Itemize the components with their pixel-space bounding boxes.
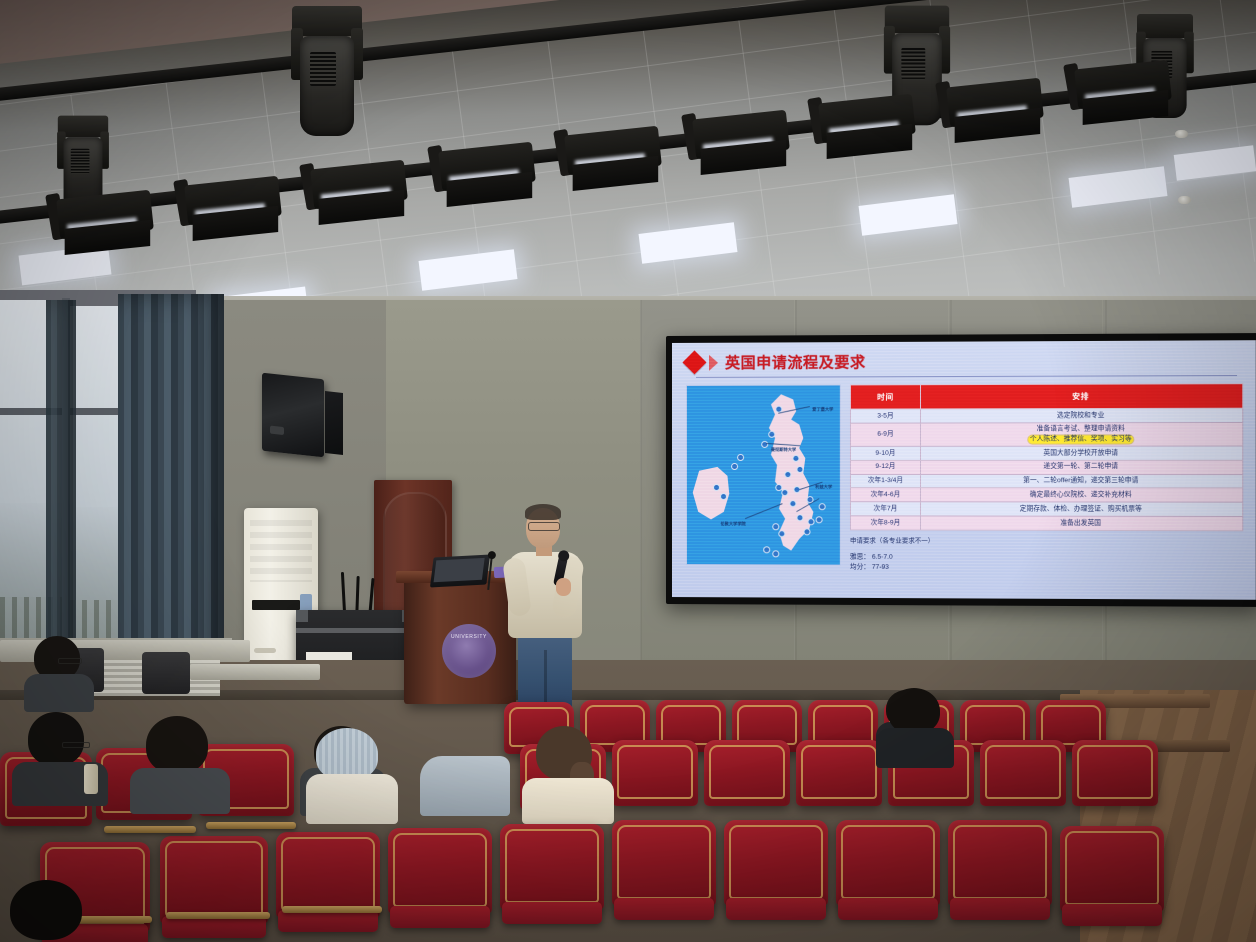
- auditorium-seat[interactable]: [980, 740, 1066, 806]
- table-row: 9-10月英国大部分学校开放申请: [850, 446, 1242, 460]
- audience-member: [132, 716, 228, 802]
- stage-blinder-light: [437, 133, 546, 200]
- uk-universities-map: 爱丁堡大学 曼彻斯特大学 利兹大学 伦敦大学学院: [686, 384, 841, 565]
- presenter-laptop: [430, 555, 490, 588]
- cell-time: 3-5月: [850, 409, 920, 423]
- cell-task: 第一、二轮offer通知，递交第三轮申请: [920, 474, 1242, 488]
- stage-blinder-light: [563, 117, 672, 184]
- application-schedule-table: 时间 安排 3-5月选定院校和专业6-9月准备语言考试、整理申请资料个人陈述、推…: [850, 383, 1243, 531]
- column-header-time: 时间: [850, 385, 920, 409]
- moving-head-light: [290, 6, 364, 146]
- stage-blinder-light: [309, 151, 418, 218]
- seat-armrest: [282, 906, 382, 913]
- auditorium-seat[interactable]: [704, 740, 790, 806]
- office-chair: [142, 652, 190, 694]
- water-bottle: [84, 764, 98, 794]
- auditorium-seat[interactable]: [1072, 740, 1158, 806]
- red-diamond-icon: [682, 350, 706, 374]
- cell-time: 次年7月: [850, 502, 920, 516]
- cell-time: 9-12月: [850, 460, 920, 474]
- table-row: 9-12月递交第一轮、第二轮申请: [850, 460, 1242, 474]
- slide-title-row: 英国申请流程及要求: [686, 349, 1243, 372]
- table-row: 6-9月准备语言考试、整理申请资料个人陈述、推荐信、奖项、实习等: [850, 422, 1242, 446]
- cell-time: 次年1-3/4月: [850, 474, 920, 488]
- table-row: 次年4-6月确定最终心仪院校、递交补充材料: [850, 488, 1242, 502]
- projection-screen: 英国申请流程及要求: [672, 340, 1256, 600]
- presentation-slide: 英国申请流程及要求: [672, 340, 1256, 600]
- audience-member-glasses: [28, 636, 90, 702]
- table-row: 次年1-3/4月第一、二轮offer通知，递交第三轮申请: [850, 474, 1242, 488]
- seat-armrest: [166, 912, 270, 919]
- map-callout-label: 伦敦大学学院: [720, 521, 745, 527]
- window-curtain: [46, 300, 76, 670]
- table-row: 3-5月选定院校和专业: [850, 408, 1242, 423]
- lecture-hall-photo: 英国申请流程及要求: [0, 0, 1256, 942]
- cell-task: 英国大部分学校开放申请: [920, 446, 1242, 460]
- wall-speaker: [262, 373, 324, 458]
- auditorium-seat[interactable]: [836, 820, 940, 906]
- stage-blinder-light: [691, 101, 800, 168]
- table-row: 次年8-9月准备出发英国: [850, 516, 1242, 531]
- stage-blinder-light: [817, 85, 926, 152]
- seat-armrest: [206, 822, 296, 829]
- auditorium-seat[interactable]: [612, 740, 698, 806]
- window-curtain: [118, 294, 224, 682]
- cell-time: 次年8-9月: [850, 516, 920, 530]
- cell-task: 准备语言考试、整理申请资料个人陈述、推荐信、奖项、实习等: [920, 422, 1242, 446]
- university-marker: [772, 550, 779, 557]
- university-marker: [768, 430, 775, 437]
- stage-blinder-light: [1073, 51, 1182, 118]
- university-emblem: UNIVERSITY: [442, 624, 496, 678]
- presenter: [500, 500, 592, 712]
- auditorium-seat[interactable]: [612, 820, 716, 906]
- smoke-detector-icon: [1178, 196, 1191, 204]
- column-header-task: 安排: [920, 384, 1242, 409]
- auditorium-seat[interactable]: [724, 820, 828, 906]
- map-callout-line: [745, 503, 783, 519]
- ireland-landmass: [690, 464, 736, 528]
- audience-member: [420, 742, 510, 812]
- audience-member-beanie: [310, 728, 394, 812]
- requirements-note: 申请要求（各专业要求不一）: [850, 535, 1243, 545]
- university-marker: [789, 500, 796, 507]
- title-underline: [696, 375, 1237, 378]
- auditorium-seat[interactable]: [1060, 826, 1164, 912]
- university-marker: [803, 529, 810, 536]
- map-callout-label: 利兹大学: [815, 484, 832, 490]
- audience-member-ponytail: [524, 726, 610, 812]
- map-callout-label: 曼彻斯特大学: [771, 446, 796, 452]
- university-marker: [818, 504, 825, 511]
- cell-time: 9-10月: [850, 446, 920, 460]
- slide-title: 英国申请流程及要求: [725, 351, 866, 373]
- university-marker: [731, 463, 738, 470]
- auditorium-seat[interactable]: [948, 820, 1052, 906]
- table-row: 次年7月定期存款、体检、办理签证、购买机票等: [850, 502, 1242, 517]
- table-body: 3-5月选定院校和专业6-9月准备语言考试、整理申请资料个人陈述、推荐信、奖项、…: [850, 408, 1242, 530]
- cell-time: 次年4-6月: [850, 488, 920, 502]
- cell-task: 确定最终心仪院校、递交补充材料: [920, 488, 1242, 502]
- chevron-right-icon: [709, 354, 718, 370]
- highlighted-task: 个人陈述、推荐信、奖项、实习等: [1028, 435, 1134, 443]
- seat-armrest: [104, 826, 196, 833]
- university-marker: [808, 518, 815, 525]
- slide-body: 爱丁堡大学 曼彻斯特大学 利兹大学 伦敦大学学院: [686, 383, 1243, 595]
- knit-beanie: [316, 728, 378, 780]
- stage-blinder-light: [945, 69, 1054, 136]
- auditorium-seat[interactable]: [160, 836, 268, 924]
- requirement-item: 均分： 77-93: [850, 562, 1243, 573]
- requirements-list: 雅思： 6.5-7.0均分： 77-93: [850, 552, 1243, 573]
- eyeglasses: [58, 658, 82, 664]
- cell-task: 准备出发英国: [920, 516, 1242, 531]
- university-marker: [713, 484, 720, 491]
- schedule-table-wrap: 时间 安排 3-5月选定院校和专业6-9月准备语言考试、整理申请资料个人陈述、推…: [850, 383, 1243, 595]
- auditorium-seat[interactable]: [500, 824, 604, 910]
- auditorium-seat[interactable]: [388, 828, 492, 914]
- back-desk: [190, 664, 320, 680]
- map-callout-label: 爱丁堡大学: [812, 407, 833, 413]
- cell-task: 定期存款、体检、办理签证、购买机票等: [920, 502, 1242, 516]
- cell-task: 选定院校和专业: [920, 408, 1242, 423]
- audience-member: [0, 880, 110, 942]
- emblem-text: UNIVERSITY: [451, 634, 487, 640]
- university-marker: [763, 546, 770, 553]
- smoke-detector-icon: [1175, 130, 1188, 138]
- projection-screen-frame: 英国申请流程及要求: [666, 333, 1256, 607]
- eyeglasses: [62, 742, 90, 748]
- auditorium-seat[interactable]: [796, 740, 882, 806]
- audience-member: [880, 688, 950, 758]
- stage-blinder-light: [183, 167, 292, 234]
- university-marker: [737, 454, 744, 461]
- cell-time: 6-9月: [850, 423, 920, 447]
- eyeglasses: [528, 522, 560, 531]
- cell-task: 递交第一轮、第二轮申请: [920, 460, 1242, 474]
- table-header-row: 时间 安排: [850, 384, 1242, 409]
- university-marker: [772, 523, 779, 530]
- wall-speaker: [325, 391, 343, 455]
- university-marker: [815, 516, 822, 523]
- stage-blinder-light: [55, 181, 164, 248]
